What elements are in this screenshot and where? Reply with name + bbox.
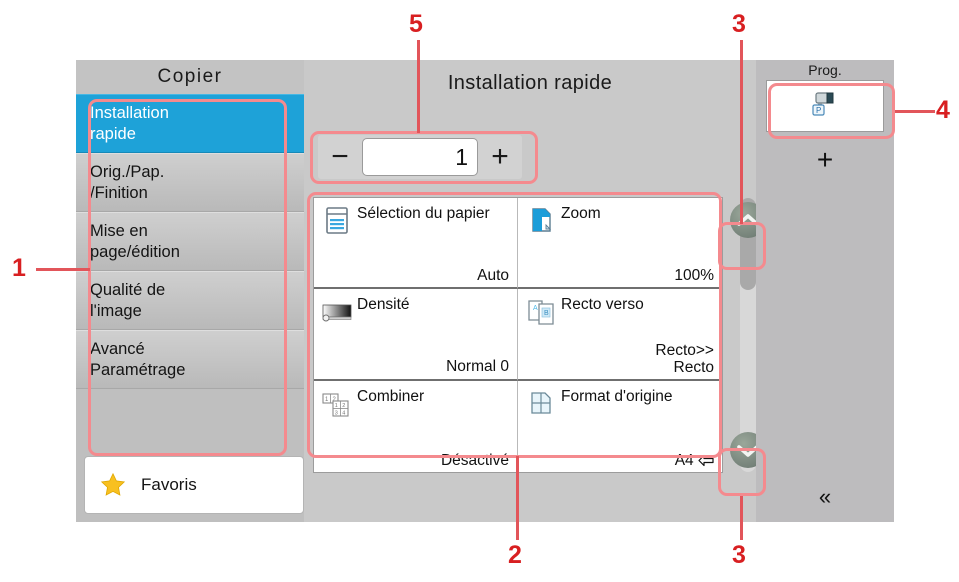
sidebar-item-avance-parametrage[interactable]: Avancé Paramétrage <box>76 330 304 389</box>
svg-text:1: 1 <box>335 403 338 409</box>
program-shortcut-card[interactable]: P <box>766 80 884 132</box>
annotation-number-3-up: 3 <box>732 10 746 39</box>
tile-label: Zoom <box>561 203 601 222</box>
favoris-button[interactable]: Favoris <box>84 456 304 514</box>
add-program-button[interactable]: + <box>767 142 883 178</box>
tile-value-text: A4 <box>675 452 694 469</box>
function-tile-grid: Sélection du papier Auto Zoom <box>313 197 723 473</box>
tile-label: Recto verso <box>561 294 644 313</box>
tile-value: 100% <box>674 267 714 284</box>
page-title: Installation rapide <box>304 60 756 106</box>
tile-combiner[interactable]: 1 2 1 2 3 4 Combiner Désactivé <box>314 381 518 472</box>
copier-touch-panel: Copier Installation rapide Orig./Pap. /F… <box>76 60 894 522</box>
tile-value: Normal 0 <box>446 358 509 375</box>
svg-text:P: P <box>816 106 821 115</box>
main-content: Installation rapide − 1 + <box>304 60 756 522</box>
duplex-icon: A B <box>524 294 558 328</box>
sidebar-item-mise-en-page-edition[interactable]: Mise en page/édition <box>76 212 304 271</box>
tile-label: Densité <box>357 294 410 313</box>
tile-value: A4 <box>675 452 714 469</box>
zoom-page-icon <box>524 203 558 237</box>
sidebar-item-orig-pap-finition[interactable]: Orig./Pap. /Finition <box>76 153 304 212</box>
tile-label: Combiner <box>357 386 424 405</box>
sidebar-item-label: Mise en <box>90 221 180 242</box>
tile-value: Désactivé <box>441 452 509 469</box>
sidebar-item-label: rapide <box>90 124 169 145</box>
quantity-input[interactable]: 1 <box>362 138 478 176</box>
tile-selection-du-papier[interactable]: Sélection du papier Auto <box>314 198 518 289</box>
sidebar-item-label: Paramétrage <box>90 360 185 381</box>
tile-zoom[interactable]: Zoom 100% <box>518 198 722 289</box>
tile-value: Auto <box>477 267 509 284</box>
annotation-number-5: 5 <box>409 10 423 39</box>
annotation-number-4: 4 <box>936 96 950 125</box>
sidebar-title: Copier <box>76 60 304 94</box>
svg-text:B: B <box>544 310 549 317</box>
sidebar-item-label: Installation <box>90 103 169 124</box>
copy-quantity-stepper[interactable]: − 1 + <box>318 135 522 179</box>
favoris-label: Favoris <box>141 475 197 495</box>
sidebar-item-label: Qualité de <box>90 280 165 301</box>
collapse-panel-button[interactable]: « <box>756 486 894 508</box>
svg-text:A: A <box>533 305 538 312</box>
right-panel: Prog. P + « <box>756 60 894 522</box>
quantity-decrement-button[interactable]: − <box>318 142 362 172</box>
sidebar-item-installation-rapide[interactable]: Installation rapide <box>76 94 304 153</box>
tile-label: Sélection du papier <box>357 203 490 222</box>
svg-text:4: 4 <box>342 410 345 416</box>
tile-recto-verso[interactable]: A B Recto verso Recto>> Recto <box>518 289 722 380</box>
tile-value: Recto>> Recto <box>655 342 714 377</box>
svg-text:2: 2 <box>342 403 345 409</box>
sidebar-item-label: l'image <box>90 301 165 322</box>
prog-label: Prog. <box>756 60 894 80</box>
tile-densite[interactable]: Densité Normal 0 <box>314 289 518 380</box>
sidebar: Copier Installation rapide Orig./Pap. /F… <box>76 60 304 522</box>
annotation-number-3-down: 3 <box>732 541 746 570</box>
tile-label: Format d'origine <box>561 386 673 405</box>
sidebar-item-label: Orig./Pap. <box>90 162 164 183</box>
paper-orientation-icon <box>698 452 714 469</box>
svg-text:3: 3 <box>335 410 338 416</box>
sidebar-item-label: page/édition <box>90 242 180 263</box>
original-size-icon <box>524 386 558 420</box>
annotation-number-1: 1 <box>12 254 26 283</box>
density-gradient-icon <box>320 294 354 328</box>
sidebar-item-label: Avancé <box>90 339 185 360</box>
annotation-number-2: 2 <box>508 541 522 570</box>
quantity-increment-button[interactable]: + <box>478 142 522 172</box>
program-shortcut-icon: P <box>808 89 842 124</box>
tile-format-d-origine[interactable]: Format d'origine A4 <box>518 381 722 472</box>
scrollbar-track[interactable] <box>740 198 756 472</box>
annotation-leader-4 <box>895 110 935 113</box>
star-icon <box>99 471 127 499</box>
sidebar-item-qualite-de-l-image[interactable]: Qualité de l'image <box>76 271 304 330</box>
sidebar-item-label: /Finition <box>90 183 164 204</box>
paper-tray-icon <box>320 203 354 237</box>
combine-pages-icon: 1 2 1 2 3 4 <box>320 386 354 420</box>
